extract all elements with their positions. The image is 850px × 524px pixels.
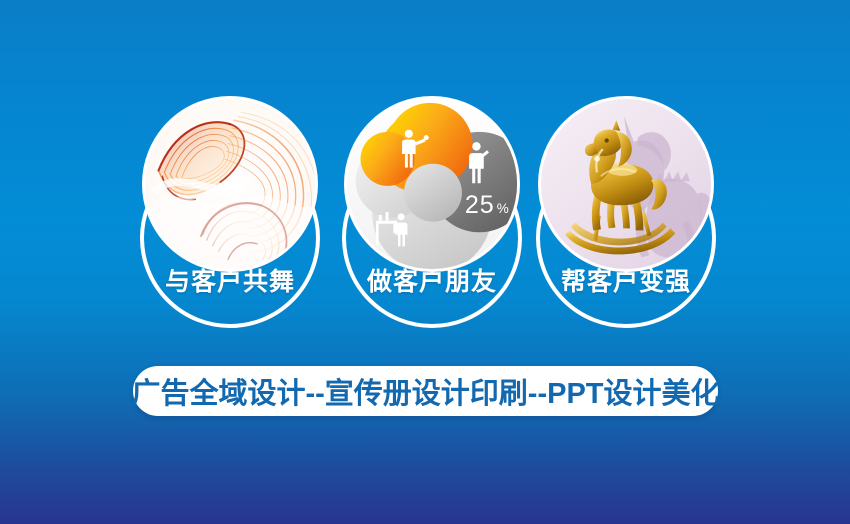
photo-infographic-blobs[interactable]: 25 %: [344, 96, 520, 272]
svg-text:25: 25: [465, 191, 495, 219]
circle-label-dance-bold: 共舞: [243, 268, 295, 296]
svg-text:%: %: [497, 201, 509, 216]
infographic-blobs-icon: 25 %: [347, 99, 517, 269]
golden-rocking-horse-icon: [541, 99, 711, 269]
circle-label-stronger-bold: 变强: [639, 268, 691, 296]
photo-orange-smoke-swirl[interactable]: [142, 96, 318, 272]
services-banner[interactable]: 广告全域设计--宣传册设计印刷--PPT设计美化: [133, 366, 718, 416]
circle-label-friend-bold: 朋友: [445, 268, 497, 296]
circle-label-stronger-light: 帮客户: [561, 268, 639, 296]
feature-group-friend[interactable]: 做客户朋友: [342, 96, 522, 332]
photo-golden-rocking-horse[interactable]: [538, 96, 714, 272]
circle-label-friend-light: 做客户: [367, 268, 445, 296]
services-banner-text: 广告全域设计--宣传册设计印刷--PPT设计美化: [131, 370, 719, 412]
feature-group-dance[interactable]: 与客户共舞: [140, 96, 320, 332]
feature-group-stronger[interactable]: 帮客户变强: [536, 96, 716, 332]
orange-smoke-swirl-icon: [145, 99, 315, 269]
circle-label-dance-light: 与客户: [165, 268, 243, 296]
poster-canvas: 与客户共舞: [0, 0, 850, 524]
